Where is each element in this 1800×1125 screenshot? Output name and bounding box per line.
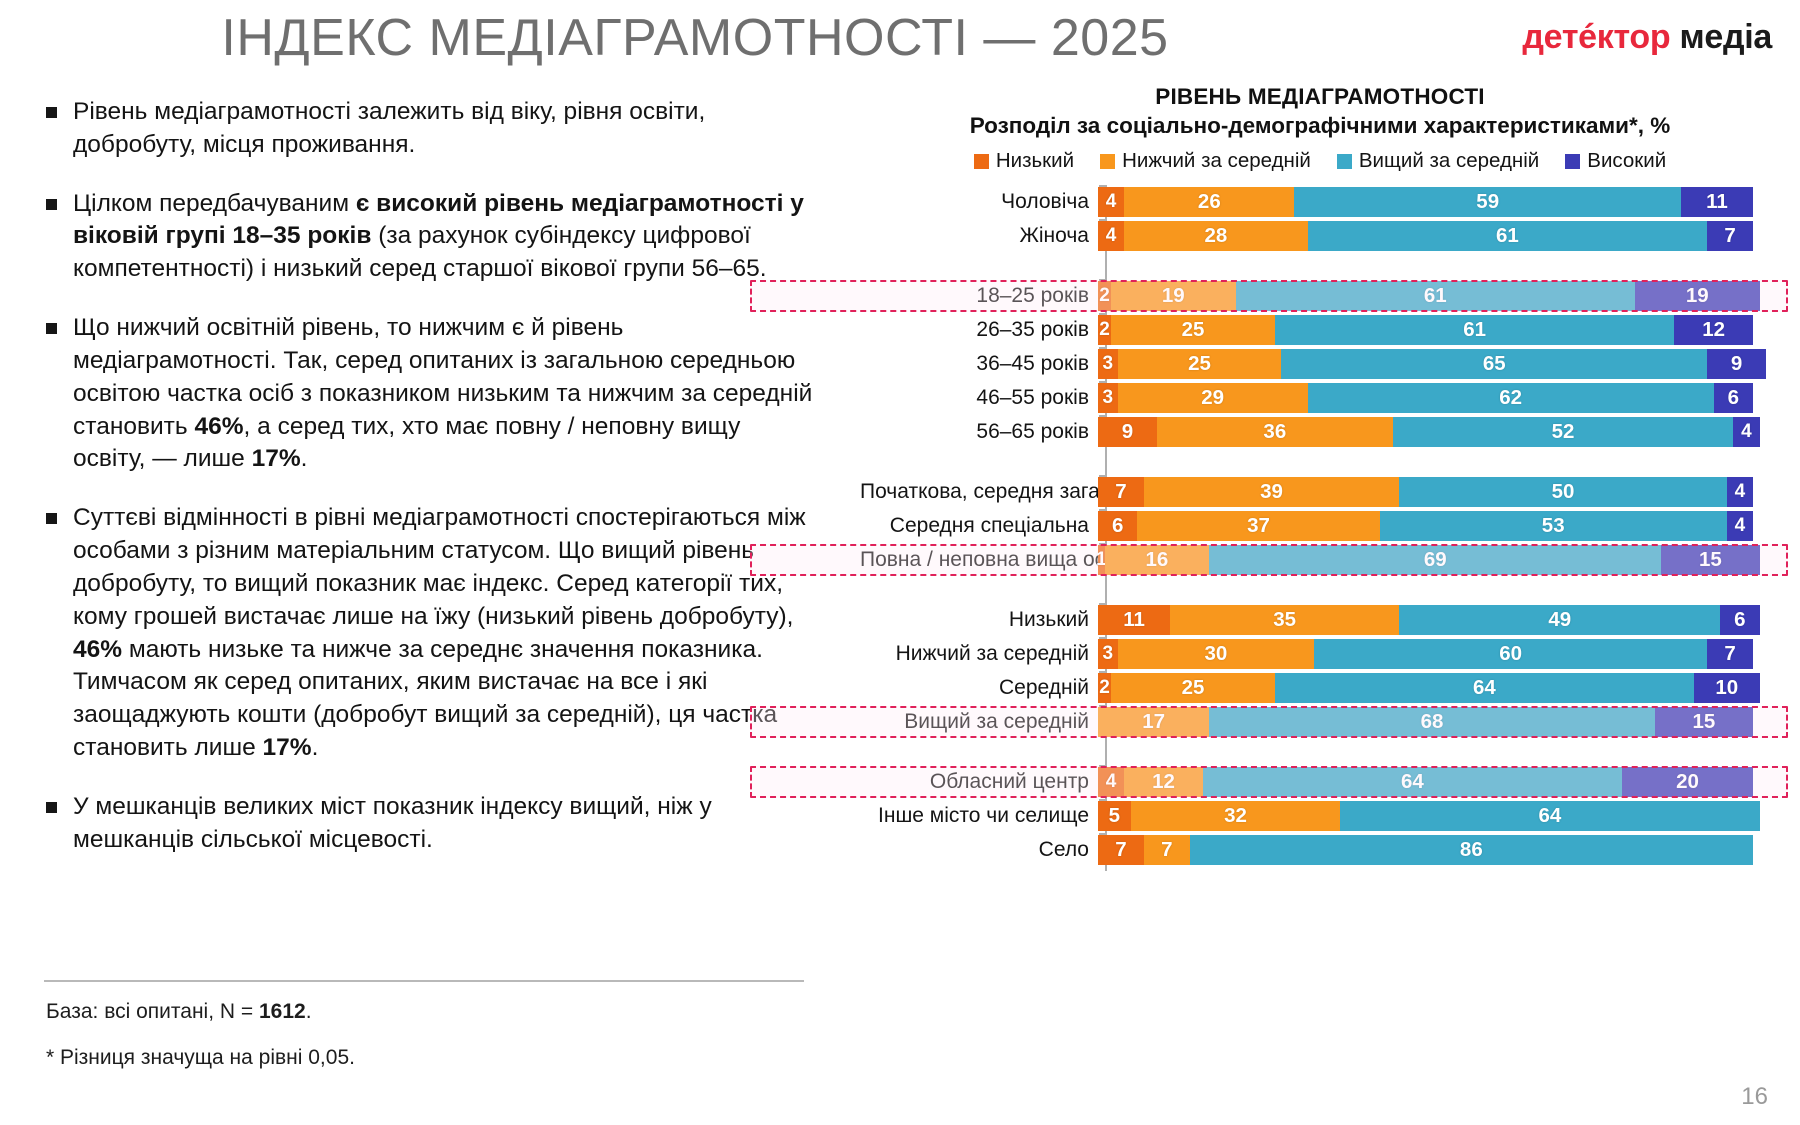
chart-row-bars: 2256112 xyxy=(1098,315,1780,345)
chart-segment: 39 xyxy=(1144,477,1399,507)
chart-segment-value: 68 xyxy=(1421,710,1444,734)
chart-row-label: Низький xyxy=(860,608,1098,632)
chart-row: Жіноча428617 xyxy=(860,219,1780,253)
chart-row-label: 18–25 років xyxy=(860,284,1098,308)
chart-segment-value: 16 xyxy=(1146,548,1169,572)
bullet-list: Рівень медіаграмотності залежить від вік… xyxy=(46,96,816,883)
chart-row: Обласний центр4126420 xyxy=(860,765,1780,799)
chart-segment-value: 53 xyxy=(1542,514,1565,538)
chart-row: Середня спеціальна637534 xyxy=(860,509,1780,543)
chart-segment-value: 69 xyxy=(1424,548,1447,572)
chart-segment-value: 6 xyxy=(1728,386,1739,410)
chart-row-bars: 4126420 xyxy=(1098,767,1780,797)
chart-segment: 4 xyxy=(1727,477,1753,507)
chart-segment: 62 xyxy=(1308,383,1714,413)
chart-segment-value: 11 xyxy=(1706,190,1728,214)
chart-segment: 64 xyxy=(1340,801,1759,831)
chart-row-label: Повна / неповна вища освіта xyxy=(860,548,1098,572)
chart-segment: 32 xyxy=(1131,801,1341,831)
axis-tick xyxy=(1099,799,1107,801)
chart-row-label: Середній xyxy=(860,676,1098,700)
chart-segment: 28 xyxy=(1124,221,1307,251)
chart-segment-value: 64 xyxy=(1401,770,1424,794)
chart-segment-value: 37 xyxy=(1247,514,1270,538)
axis-tick xyxy=(1099,637,1107,639)
chart-panel: РІВЕНЬ МЕДІАГРАМОТНОСТІ Розподіл за соці… xyxy=(860,84,1780,984)
chart-segment: 12 xyxy=(1674,315,1753,345)
chart-segment-value: 17 xyxy=(1142,710,1165,734)
page-title: ІНДЕКС МЕДІАГРАМОТНОСТІ — 2025 xyxy=(0,8,1390,68)
chart-segment-value: 2 xyxy=(1099,319,1110,341)
chart-row-label: Інше місто чи селище xyxy=(860,804,1098,828)
chart-segment-value: 61 xyxy=(1463,318,1486,342)
chart-row-bars: 2196119 xyxy=(1098,281,1780,311)
legend-swatch-icon xyxy=(1337,154,1352,169)
chart-row-bars: 2256410 xyxy=(1098,673,1780,703)
chart-row-label: Чоловіча xyxy=(860,190,1098,214)
chart-row: 56–65 років936524 xyxy=(860,415,1780,449)
chart-segment-value: 9 xyxy=(1122,420,1133,444)
chart-row-bars: 176815 xyxy=(1098,707,1780,737)
chart-segment: 17 xyxy=(1098,707,1209,737)
chart-segment-value: 61 xyxy=(1496,224,1519,248)
page-number: 16 xyxy=(1741,1083,1768,1111)
chart-segment: 12 xyxy=(1124,767,1203,797)
chart-segment: 30 xyxy=(1118,639,1315,669)
chart-segment-value: 25 xyxy=(1188,352,1211,376)
chart-segment: 3 xyxy=(1098,639,1118,669)
chart-segment: 20 xyxy=(1622,767,1753,797)
chart-segment: 53 xyxy=(1380,511,1727,541)
legend-swatch-icon xyxy=(1565,154,1580,169)
chart-segment-value: 50 xyxy=(1552,480,1575,504)
chart-segment: 11 xyxy=(1681,187,1753,217)
chart-row-label: Село xyxy=(860,838,1098,862)
chart-segment-value: 10 xyxy=(1715,676,1738,700)
legend-label: Вищий за середній xyxy=(1359,149,1539,173)
chart-row: Вищий за середній176815 xyxy=(860,705,1780,739)
chart-segment: 2 xyxy=(1098,281,1111,311)
chart-segment-value: 6 xyxy=(1112,514,1123,538)
chart-segment: 25 xyxy=(1111,673,1275,703)
chart-segment-value: 2 xyxy=(1099,677,1110,699)
chart-segment-value: 28 xyxy=(1204,224,1227,248)
chart-segment-value: 4 xyxy=(1741,421,1752,443)
footnote-significance: * Різниця значуща на рівні 0,05. xyxy=(46,1046,355,1070)
chart-row-bars: 1135496 xyxy=(1098,605,1780,635)
chart-segment-value: 29 xyxy=(1201,386,1224,410)
chart-segment-value: 59 xyxy=(1476,190,1499,214)
chart-segment: 6 xyxy=(1714,383,1753,413)
bullet-item: Що нижчий освітній рівень, то нижчим є й… xyxy=(46,312,816,476)
chart-row: Село7786 xyxy=(860,833,1780,867)
chart-segment-value: 36 xyxy=(1263,420,1286,444)
chart-row-bars: 1166915 xyxy=(1098,545,1780,575)
chart-subtitle: Розподіл за соціально-демографічними хар… xyxy=(860,113,1780,139)
legend-item: Вищий за середній xyxy=(1337,149,1539,173)
chart-row: Нижчий за середній330607 xyxy=(860,637,1780,671)
brand-logo: детéктор медіа xyxy=(1522,18,1772,57)
chart-segment: 35 xyxy=(1170,605,1399,635)
chart-segment-value: 2 xyxy=(1099,285,1110,307)
chart-segment: 11 xyxy=(1098,605,1170,635)
chart-segment-value: 25 xyxy=(1182,318,1205,342)
chart-row: 18–25 років2196119 xyxy=(860,279,1780,313)
chart-segment: 2 xyxy=(1098,315,1111,345)
chart-row: 26–35 років2256112 xyxy=(860,313,1780,347)
chart-segment: 9 xyxy=(1098,417,1157,447)
logo-word-media: медіа xyxy=(1680,18,1773,56)
slide-root: ІНДЕКС МЕДІАГРАМОТНОСТІ — 2025 детéктор … xyxy=(0,0,1800,1125)
chart-segment-value: 7 xyxy=(1115,480,1126,504)
chart-segment: 4 xyxy=(1733,417,1759,447)
chart-segment-value: 3 xyxy=(1103,387,1114,409)
chart-segment: 4 xyxy=(1098,187,1124,217)
chart-row-bars: 329626 xyxy=(1098,383,1780,413)
chart-segment: 7 xyxy=(1707,639,1753,669)
chart-segment-value: 4 xyxy=(1106,225,1117,247)
chart-segment-value: 11 xyxy=(1123,608,1145,632)
chart-row: 46–55 років329626 xyxy=(860,381,1780,415)
chart-row-label: Початкова, середня загальна xyxy=(860,480,1098,504)
chart-segment: 5 xyxy=(1098,801,1131,831)
chart-row: Початкова, середня загальна739504 xyxy=(860,475,1780,509)
chart-segment-value: 7 xyxy=(1724,642,1735,666)
chart-segment: 61 xyxy=(1236,281,1636,311)
axis-tick xyxy=(1099,415,1107,417)
axis-tick xyxy=(1099,475,1107,477)
chart-row: Середній2256410 xyxy=(860,671,1780,705)
chart-row-label: Середня спеціальна xyxy=(860,514,1098,538)
chart-row: Чоловіча4265911 xyxy=(860,185,1780,219)
chart-segment-value: 39 xyxy=(1260,480,1283,504)
chart-segment-value: 3 xyxy=(1103,353,1114,375)
chart-row: 36–45 років325659 xyxy=(860,347,1780,381)
chart-segment: 65 xyxy=(1281,349,1707,379)
chart-segment: 6 xyxy=(1720,605,1759,635)
chart-segment: 15 xyxy=(1661,545,1759,575)
chart-segment: 64 xyxy=(1275,673,1694,703)
chart-segment-value: 19 xyxy=(1686,284,1709,308)
bullet-text: Суттєві відмінності в рівні медіаграмотн… xyxy=(73,502,816,765)
chart-segment-value: 4 xyxy=(1106,771,1117,793)
chart-title: РІВЕНЬ МЕДІАГРАМОТНОСТІ xyxy=(860,84,1780,110)
chart-segment: 4 xyxy=(1098,221,1124,251)
axis-tick xyxy=(1099,705,1107,707)
chart-row-bars: 4265911 xyxy=(1098,187,1780,217)
chart-segment: 3 xyxy=(1098,349,1118,379)
chart-row-bars: 325659 xyxy=(1098,349,1780,379)
bullet-item: Цілком передбачуваним є високий рівень м… xyxy=(46,188,816,286)
chart-segment: 64 xyxy=(1203,767,1622,797)
chart-segment-value: 7 xyxy=(1724,224,1735,248)
chart-segment: 36 xyxy=(1157,417,1393,447)
axis-tick xyxy=(1099,765,1107,767)
chart-row-label: Нижчий за середній xyxy=(860,642,1098,666)
chart-segment-value: 32 xyxy=(1224,804,1247,828)
chart-segment: 61 xyxy=(1275,315,1675,345)
axis-tick xyxy=(1099,671,1107,673)
legend-swatch-icon xyxy=(1100,154,1115,169)
chart-segment: 60 xyxy=(1314,639,1707,669)
chart-segment-value: 7 xyxy=(1161,838,1172,862)
chart-segment: 25 xyxy=(1118,349,1282,379)
chart-segment: 19 xyxy=(1111,281,1235,311)
chart-segment: 59 xyxy=(1294,187,1680,217)
chart-segment-value: 65 xyxy=(1483,352,1506,376)
chart-segment: 68 xyxy=(1209,707,1654,737)
chart-row-label: Вищий за середній xyxy=(860,710,1098,734)
axis-tick xyxy=(1099,543,1107,545)
chart-row-label: 36–45 років xyxy=(860,352,1098,376)
legend-label: Високий xyxy=(1587,149,1666,173)
square-bullet-icon xyxy=(46,513,57,524)
chart-segment: 7 xyxy=(1098,477,1144,507)
bullet-text: Що нижчий освітній рівень, то нижчим є й… xyxy=(73,312,816,476)
legend-label: Низький xyxy=(996,149,1074,173)
axis-tick xyxy=(1099,603,1107,605)
axis-tick xyxy=(1099,509,1107,511)
chart-segment: 4 xyxy=(1098,767,1124,797)
legend-item: Нижчий за середній xyxy=(1100,149,1311,173)
bullet-item: У мешканців великих міст показник індекс… xyxy=(46,791,816,857)
chart-segment: 50 xyxy=(1399,477,1727,507)
chart-segment: 26 xyxy=(1124,187,1294,217)
legend-label: Нижчий за середній xyxy=(1122,149,1311,173)
chart-segment: 15 xyxy=(1655,707,1753,737)
chart-segment-value: 20 xyxy=(1676,770,1699,794)
chart-segment-value: 52 xyxy=(1552,420,1575,444)
legend-item: Низький xyxy=(974,149,1074,173)
chart-segment: 49 xyxy=(1399,605,1720,635)
chart-row-bars: 330607 xyxy=(1098,639,1780,669)
bullet-item: Рівень медіаграмотності залежить від вік… xyxy=(46,96,816,162)
chart-segment: 2 xyxy=(1098,673,1111,703)
legend-swatch-icon xyxy=(974,154,989,169)
logo-word-detektor: детéктор xyxy=(1522,18,1670,56)
chart-segment-value: 12 xyxy=(1702,318,1725,342)
chart-segment-value: 64 xyxy=(1539,804,1562,828)
chart-segment: 7 xyxy=(1144,835,1190,865)
footer-divider xyxy=(44,980,804,982)
square-bullet-icon xyxy=(46,107,57,118)
chart-segment-value: 64 xyxy=(1473,676,1496,700)
axis-tick xyxy=(1099,279,1107,281)
legend-item: Високий xyxy=(1565,149,1666,173)
chart-segment-value: 30 xyxy=(1204,642,1227,666)
chart-segment: 69 xyxy=(1209,545,1661,575)
chart-segment-value: 19 xyxy=(1162,284,1185,308)
chart-segment: 52 xyxy=(1393,417,1734,447)
chart-segment-value: 7 xyxy=(1115,838,1126,862)
chart-segment: 7 xyxy=(1098,835,1144,865)
chart-segment-value: 4 xyxy=(1735,481,1746,503)
chart-row: Низький1135496 xyxy=(860,603,1780,637)
bullet-text: Цілком передбачуваним є високий рівень м… xyxy=(73,188,816,286)
chart-segment: 29 xyxy=(1118,383,1308,413)
chart-segment-value: 4 xyxy=(1735,515,1746,537)
chart-row: Інше місто чи селище53264 xyxy=(860,799,1780,833)
chart-segment: 37 xyxy=(1137,511,1379,541)
axis-tick xyxy=(1099,347,1107,349)
chart-segment-value: 4 xyxy=(1106,191,1117,213)
chart-row-label: 46–55 років xyxy=(860,386,1098,410)
chart-segment-value: 49 xyxy=(1548,608,1571,632)
chart-row-bars: 936524 xyxy=(1098,417,1780,447)
chart-row-bars: 739504 xyxy=(1098,477,1780,507)
chart-row-label: 26–35 років xyxy=(860,318,1098,342)
chart-segment-value: 12 xyxy=(1152,770,1175,794)
chart-row-bars: 7786 xyxy=(1098,835,1780,865)
chart-segment: 10 xyxy=(1694,673,1760,703)
chart-row-bars: 637534 xyxy=(1098,511,1780,541)
chart-segment-value: 25 xyxy=(1182,676,1205,700)
chart-segment-value: 35 xyxy=(1273,608,1296,632)
footnote-base: База: всі опитані, N = 1612. xyxy=(46,1000,312,1024)
chart-segment-value: 62 xyxy=(1499,386,1522,410)
bullet-item: Суттєві відмінності в рівні медіаграмотн… xyxy=(46,502,816,765)
chart-legend: НизькийНижчий за середнійВищий за середн… xyxy=(860,149,1780,173)
chart-segment: 19 xyxy=(1635,281,1759,311)
chart-segment-value: 86 xyxy=(1460,838,1483,862)
chart-plot-area: Чоловіча4265911Жіноча42861718–25 років21… xyxy=(860,185,1780,985)
chart-segment-value: 15 xyxy=(1699,548,1722,572)
chart-segment: 9 xyxy=(1707,349,1766,379)
axis-tick xyxy=(1099,219,1107,221)
axis-tick xyxy=(1099,833,1107,835)
chart-segment-value: 26 xyxy=(1198,190,1221,214)
square-bullet-icon xyxy=(46,323,57,334)
chart-row-bars: 53264 xyxy=(1098,801,1780,831)
chart-segment-value: 3 xyxy=(1103,643,1114,665)
chart-segment-value: 6 xyxy=(1734,608,1745,632)
chart-segment-value: 9 xyxy=(1731,352,1742,376)
chart-segment: 25 xyxy=(1111,315,1275,345)
chart-segment: 6 xyxy=(1098,511,1137,541)
chart-segment-value: 15 xyxy=(1692,710,1715,734)
bullet-text: Рівень медіаграмотності залежить від вік… xyxy=(73,96,816,162)
chart-segment-value: 60 xyxy=(1499,642,1522,666)
chart-segment: 3 xyxy=(1098,383,1118,413)
chart-row-bars: 428617 xyxy=(1098,221,1780,251)
chart-row-label: Жіноча xyxy=(860,224,1098,248)
axis-tick xyxy=(1099,313,1107,315)
square-bullet-icon xyxy=(46,802,57,813)
square-bullet-icon xyxy=(46,199,57,210)
bullet-text: У мешканців великих міст показник індекс… xyxy=(73,791,816,857)
axis-tick xyxy=(1099,185,1107,187)
chart-segment: 7 xyxy=(1707,221,1753,251)
chart-segment: 16 xyxy=(1105,545,1210,575)
axis-tick xyxy=(1099,381,1107,383)
chart-row-label: Обласний центр xyxy=(860,770,1098,794)
chart-segment: 86 xyxy=(1190,835,1753,865)
chart-segment-value: 61 xyxy=(1424,284,1447,308)
chart-row: Повна / неповна вища освіта1166915 xyxy=(860,543,1780,577)
chart-segment: 4 xyxy=(1727,511,1753,541)
chart-segment-value: 5 xyxy=(1109,804,1120,828)
chart-row-label: 56–65 років xyxy=(860,420,1098,444)
chart-segment: 61 xyxy=(1308,221,1708,251)
